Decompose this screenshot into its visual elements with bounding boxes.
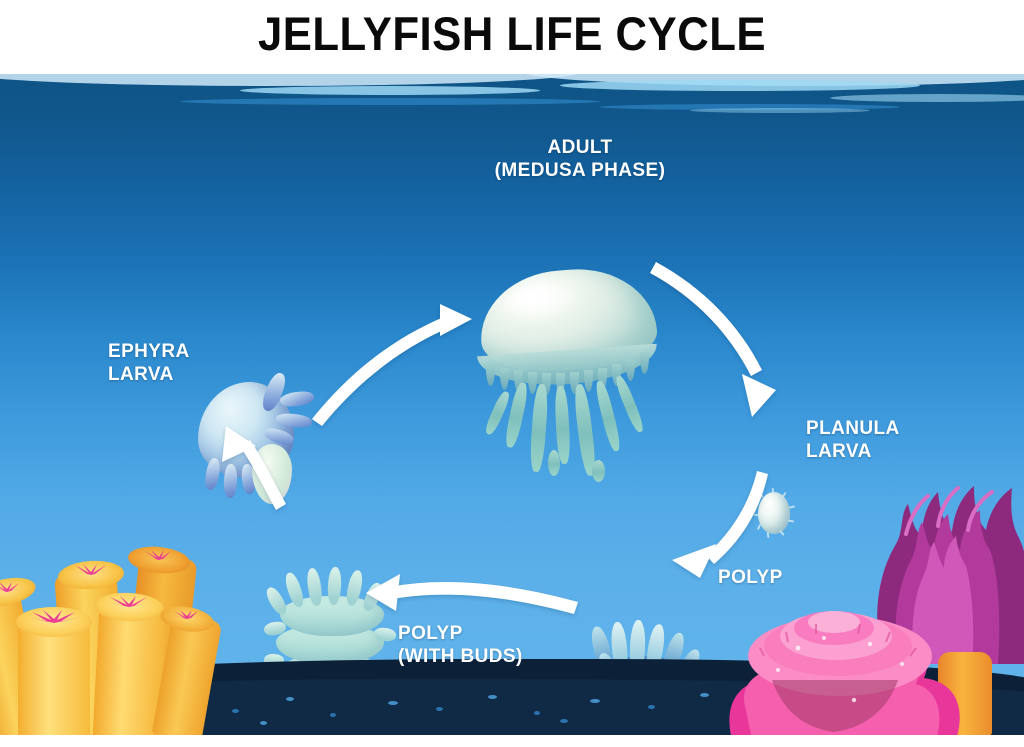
wave-shadow bbox=[180, 98, 600, 105]
polyp-bud-tentacle bbox=[263, 585, 289, 617]
medusa-tentacle bbox=[529, 384, 549, 473]
coral-polyp-star bbox=[105, 596, 153, 618]
wave-highlight bbox=[240, 86, 540, 95]
ephyra-arm bbox=[223, 464, 237, 498]
ephyra-arm bbox=[279, 390, 315, 409]
organism-adult-medusa bbox=[452, 264, 682, 479]
label-adult: ADULT (MEDUSA PHASE) bbox=[415, 136, 745, 182]
label-planula-larva: PLANULA LARVA bbox=[806, 417, 986, 463]
wave-highlight bbox=[560, 80, 920, 91]
medusa-tentacle-tip bbox=[592, 460, 605, 482]
label-polyp-with-buds: POLYP (WITH BUDS) bbox=[398, 622, 618, 668]
coral-pink-group bbox=[742, 474, 1024, 735]
label-polyp: POLYP bbox=[718, 566, 858, 589]
label-ephyra-larva: EPHYRA LARVA bbox=[108, 340, 268, 386]
coral-polyp-star bbox=[140, 550, 178, 570]
water-surface-waves bbox=[0, 74, 1024, 132]
page-title: JELLYFISH LIFE CYCLE bbox=[36, 6, 988, 61]
coral-polyp-star bbox=[70, 564, 112, 586]
coral-yellow-tube-cluster bbox=[0, 529, 224, 735]
jellyfish-life-cycle-diagram: JELLYFISH LIFE CYCLE bbox=[0, 0, 1024, 747]
coral-polyp-star bbox=[0, 582, 26, 602]
wave-highlight bbox=[830, 94, 1024, 102]
ephyra-lobe bbox=[252, 444, 292, 504]
organism-ephyra-larva bbox=[192, 366, 317, 516]
ephyra-arm bbox=[203, 457, 221, 491]
underwater-scene: ADULT (MEDUSA PHASE) EPHYRA LARVA PLANUL… bbox=[0, 74, 1024, 735]
polyp-bud-tentacle bbox=[283, 571, 306, 609]
wave-highlight bbox=[0, 74, 580, 86]
coral-polyp-star bbox=[170, 610, 204, 628]
medusa-tentacle-tip bbox=[548, 450, 560, 476]
medusa-tentacle bbox=[613, 374, 646, 434]
coral-tube bbox=[18, 621, 90, 735]
wave-highlight bbox=[690, 108, 870, 113]
coral-polyp-star bbox=[26, 610, 82, 636]
